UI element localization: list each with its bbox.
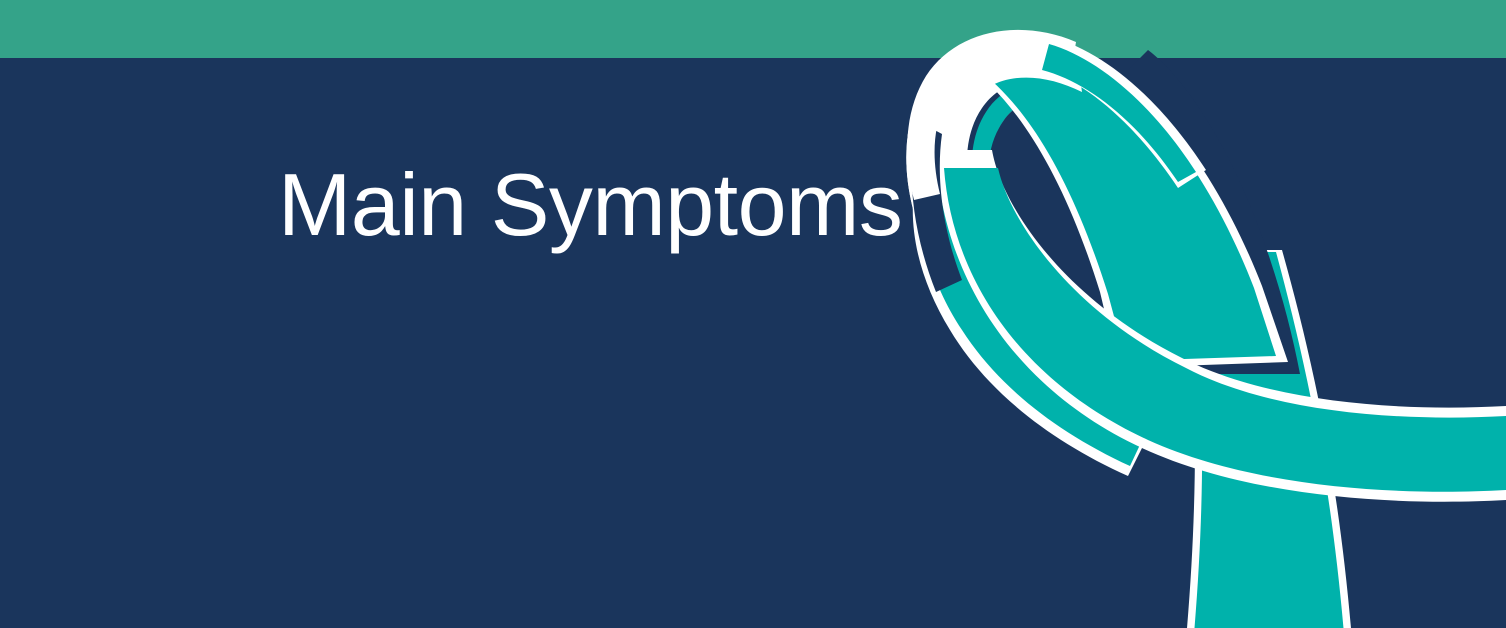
accent-top-band: [0, 0, 1506, 58]
banner-root: Main Symptoms: [0, 0, 1506, 628]
page-title-container: Main Symptoms: [278, 150, 978, 260]
banner-body-panel: [0, 58, 1506, 628]
page-title: Main Symptoms: [278, 159, 902, 251]
